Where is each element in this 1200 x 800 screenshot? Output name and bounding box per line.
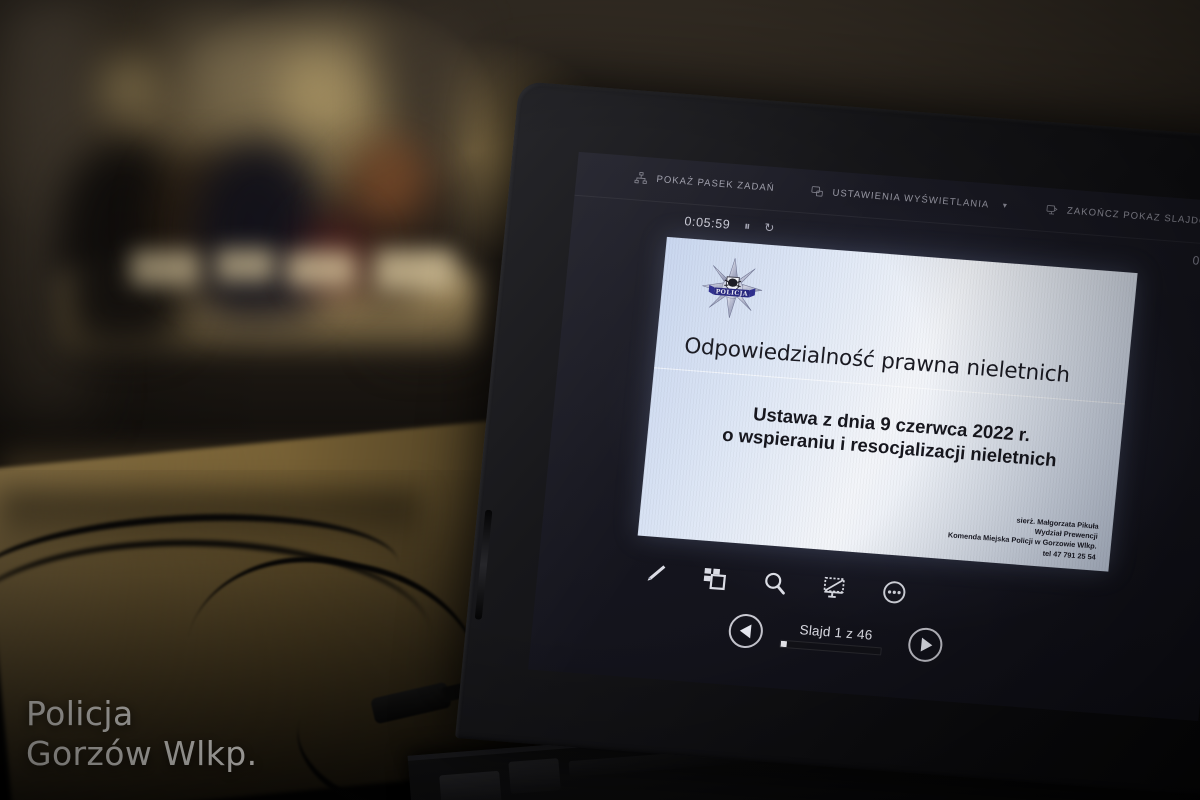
blank-screen-icon[interactable] [820,574,848,602]
watermark: Policja Gorzów Wlkp. [26,694,257,775]
keyboard-key [508,758,560,794]
watermark-line2: Gorzów Wlkp. [26,734,257,774]
slideshow-toolbar [640,550,964,620]
menu-item-end-show[interactable]: ZAKOŃCZ POKAZ SLAJDÓW [1044,203,1200,229]
restart-icon[interactable]: ↻ [764,220,775,235]
next-slide-button[interactable] [907,627,944,663]
magnifier-icon[interactable] [760,569,788,597]
slide-title: Odpowiedzialność prawna nieletnich [683,334,1114,392]
previous-slide-button[interactable] [727,613,764,649]
display-settings-icon [810,185,824,199]
chevron-right-icon [920,638,932,653]
slide-counter-group: Slajd 1 z 46 [779,620,891,655]
menu-label: POKAŻ PASEK ZADAŃ [656,174,775,194]
slide-progress-fill [781,640,788,646]
slide-subtitle: Ustawa z dnia 9 czerwca 2022 r. o wspier… [667,396,1114,476]
slide-navigation: Slajd 1 z 46 [727,613,944,663]
current-slide[interactable]: POLICJA Odpowiedzialność prawna nieletni… [638,237,1138,572]
policja-badge-icon: POLICJA [695,252,769,325]
slide-author-block: sierż. Małgorzata Pikuła Wydział Prewenc… [946,510,1099,563]
menu-label: ZAKOŃCZ POKAZ SLAJDÓW [1066,206,1200,229]
laptop-screen-area: POKAŻ PASEK ZADAŃ USTAWIENIA WYŚWIETLANI… [455,81,1200,798]
keyboard-key [439,771,501,800]
taskbar-icon [634,171,648,185]
menu-item-show-taskbar[interactable]: POKAŻ PASEK ZADAŃ [634,171,775,195]
pause-icon[interactable]: ⏸ [744,218,751,233]
elapsed-timer: 0:05:59 [684,214,731,231]
end-show-icon [1044,203,1058,217]
more-options-icon[interactable] [880,578,908,606]
slide-overview-icon[interactable] [701,565,729,593]
laptop: POKAŻ PASEK ZADAŃ USTAWIENIA WYŚWIETLANI… [0,0,1200,800]
presentation-screen: POKAŻ PASEK ZADAŃ USTAWIENIA WYŚWIETLANI… [528,152,1200,721]
watermark-line1: Policja [26,694,257,734]
menu-label: USTAWIENIA WYŚWIETLANIA [832,188,990,211]
system-clock: 09:18 [1192,253,1200,269]
menu-item-display-settings[interactable]: USTAWIENIA WYŚWIETLANIA ▼ [810,185,1010,213]
pen-icon[interactable] [641,560,669,588]
chevron-down-icon: ▼ [1001,202,1010,210]
chevron-left-icon [739,624,751,639]
